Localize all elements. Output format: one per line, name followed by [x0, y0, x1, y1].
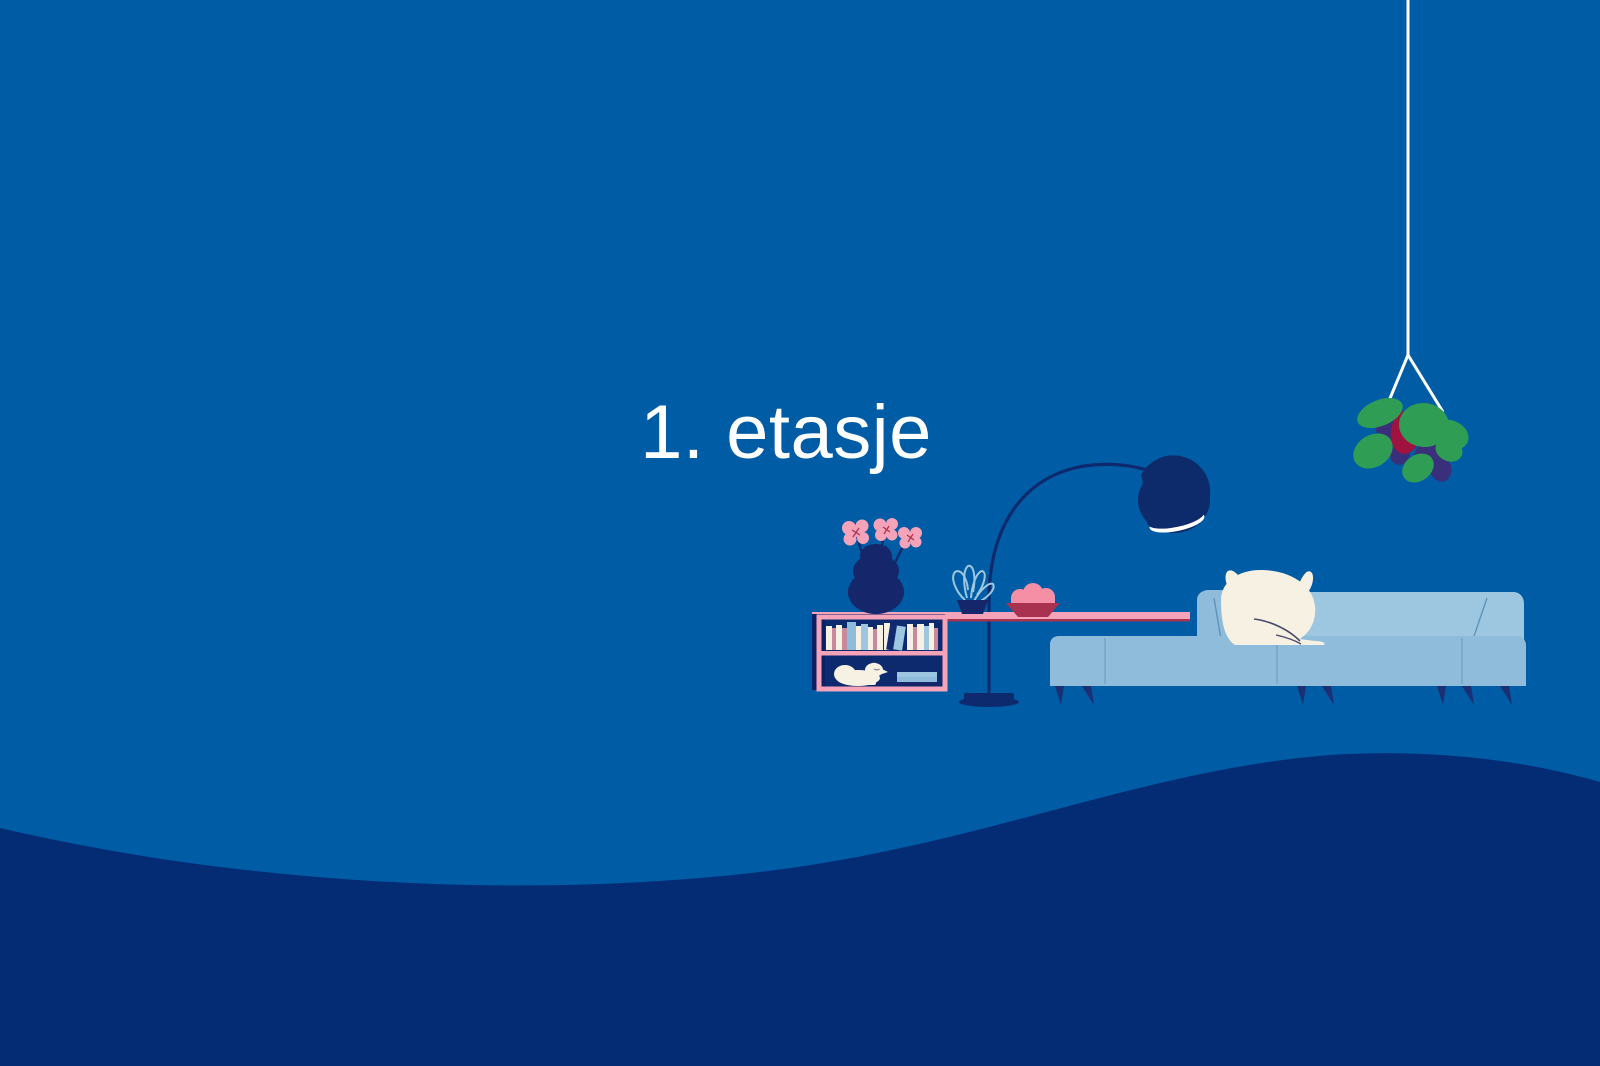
book [929, 623, 934, 650]
book [877, 625, 883, 650]
dog-haunch [834, 665, 856, 683]
book [917, 624, 924, 650]
book [826, 626, 832, 650]
book [913, 627, 917, 650]
book [836, 625, 842, 650]
slide-canvas: 1. etasje [0, 0, 1600, 1066]
lamp-base-block [964, 693, 1014, 702]
book [897, 672, 937, 677]
book [897, 677, 937, 682]
book [897, 682, 937, 686]
book-stack-bottom [897, 672, 937, 686]
book [868, 627, 873, 650]
book [934, 628, 938, 650]
book [842, 628, 847, 650]
book [873, 629, 877, 650]
book [856, 626, 861, 650]
bookshelf [812, 614, 945, 690]
dog-paws [848, 681, 876, 685]
book [832, 628, 836, 650]
living-room-illustration [0, 0, 1600, 1066]
book [907, 624, 913, 650]
book [861, 624, 868, 650]
vase-rim [864, 546, 888, 558]
book [924, 626, 929, 650]
book [847, 622, 856, 650]
potted-plant-pot [957, 600, 988, 614]
bookshelf-middle-divider [819, 651, 945, 656]
